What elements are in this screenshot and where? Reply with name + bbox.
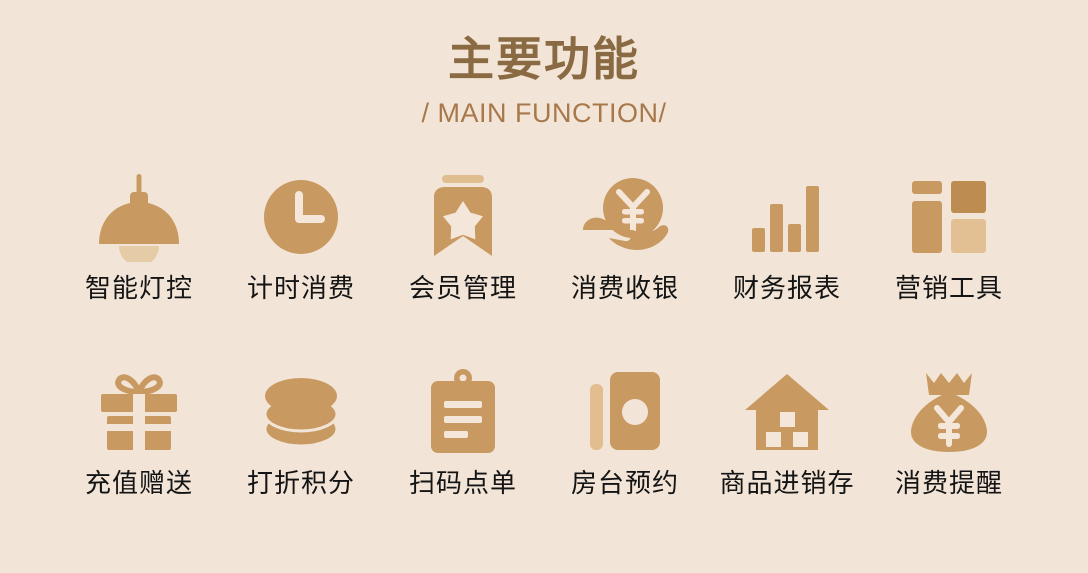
feature-label: 房台预约 [571, 470, 679, 499]
feature-item-timed-billing[interactable]: 计时消费 [220, 169, 382, 364]
feature-item-recharge-gift[interactable]: 充值赠送 [58, 364, 220, 559]
feature-label: 营销工具 [895, 275, 1003, 304]
money-bag-yuan-icon [909, 364, 989, 460]
bookmark-star-icon [424, 169, 502, 265]
feature-item-inventory[interactable]: 商品进销存 [706, 364, 868, 559]
feature-item-member-management[interactable]: 会员管理 [382, 169, 544, 364]
feature-label: 消费收银 [571, 275, 679, 304]
feature-label: 商品进销存 [719, 470, 854, 499]
feature-item-cashier[interactable]: 消费收银 [544, 169, 706, 364]
feature-item-qr-ordering[interactable]: 扫码点单 [382, 364, 544, 559]
feature-label: 充值赠送 [85, 470, 193, 499]
page-subtitle: / MAIN FUNCTION/ [0, 100, 1088, 127]
clock-icon [261, 169, 341, 265]
feature-label: 打折积分 [247, 470, 355, 499]
clipboard-icon [428, 364, 498, 460]
feature-label: 计时消费 [247, 275, 355, 304]
feature-item-financial-report[interactable]: 财务报表 [706, 169, 868, 364]
feature-item-marketing-tools[interactable]: 营销工具 [868, 169, 1030, 364]
feature-item-consumption-reminder[interactable]: 消费提醒 [868, 364, 1030, 559]
feature-item-discount-points[interactable]: 打折积分 [220, 364, 382, 559]
feature-label: 消费提醒 [895, 470, 1003, 499]
layout-blocks-icon [910, 169, 988, 265]
feature-grid: 智能灯控 计时消费 会员管理 [0, 169, 1088, 559]
warehouse-house-icon [744, 364, 830, 460]
door-icon [588, 364, 662, 460]
feature-label: 财务报表 [733, 275, 841, 304]
main-function-section: 主要功能 / MAIN FUNCTION/ 智能灯控 [0, 0, 1088, 573]
bar-chart-icon [750, 169, 824, 265]
page-title: 主要功能 [0, 34, 1088, 86]
hand-holding-yuan-icon [579, 169, 671, 265]
section-header: 主要功能 / MAIN FUNCTION/ [0, 0, 1088, 127]
feature-item-smart-light[interactable]: 智能灯控 [58, 169, 220, 364]
feature-label: 会员管理 [409, 275, 517, 304]
gift-box-icon [97, 364, 181, 460]
feature-item-room-reservation[interactable]: 房台预约 [544, 364, 706, 559]
coin-stack-icon [261, 364, 341, 460]
pendant-lamp-icon [93, 169, 185, 265]
feature-label: 智能灯控 [85, 275, 193, 304]
feature-label: 扫码点单 [409, 470, 517, 499]
